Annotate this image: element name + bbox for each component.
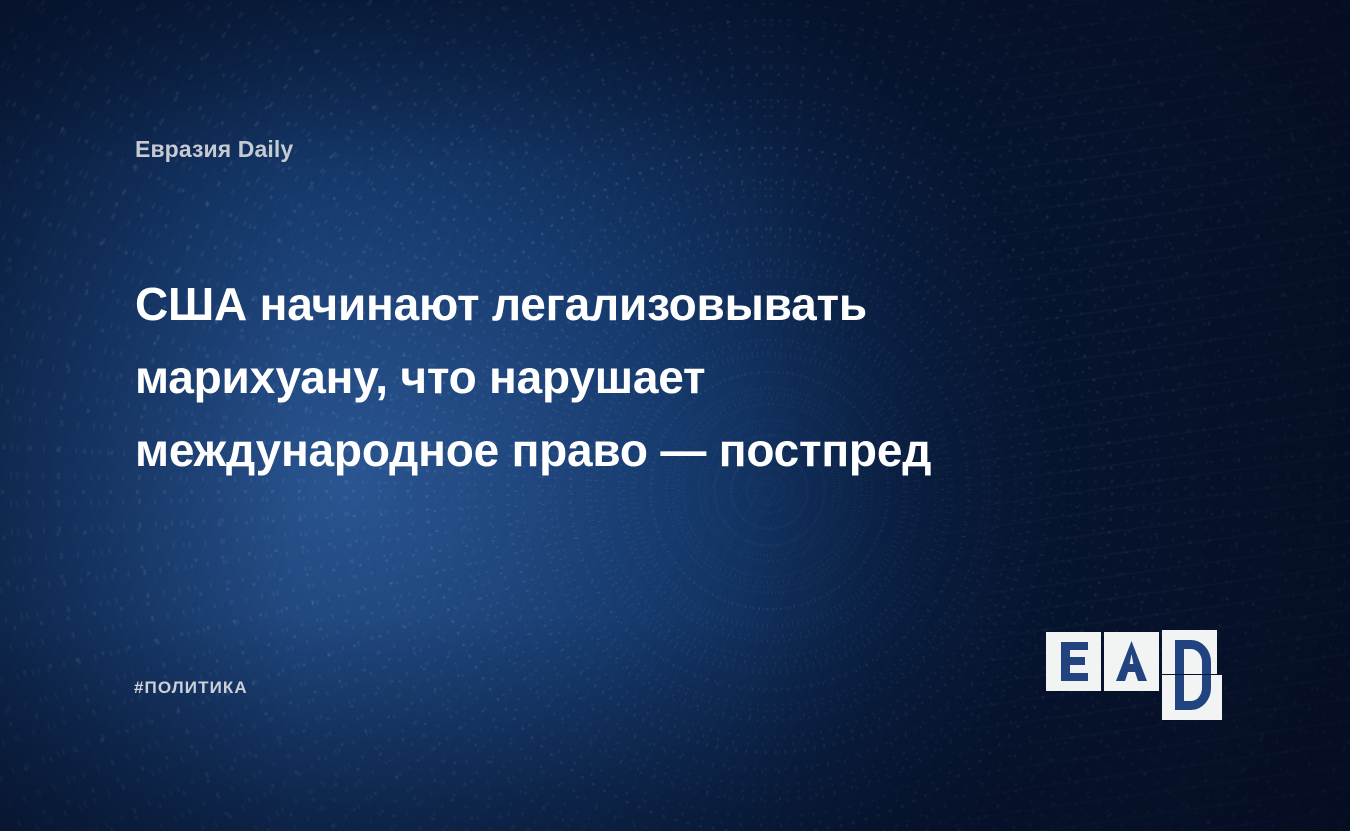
logo-tile-e [1046,632,1101,691]
card-content: Евразия Daily США начинают легализовыват… [0,0,1350,831]
logo-tile-a [1104,632,1159,691]
logo-tile-d-bottom [1162,675,1222,720]
ead-logo [1046,630,1222,720]
page-title: США начинают легализовывать марихуану, ч… [135,268,1135,487]
category-hashtag[interactable]: #ПОЛИТИКА [134,678,248,698]
brand-name: Евразия Daily [135,136,293,163]
logo-tile-d-top [1162,630,1217,674]
headline-line-2: марихуану, что нарушает [135,341,1135,414]
headline-line-3: международное право — постпред [135,414,1135,487]
news-card: Евразия Daily США начинают легализовыват… [0,0,1350,831]
headline-line-1: США начинают легализовывать [135,268,1135,341]
